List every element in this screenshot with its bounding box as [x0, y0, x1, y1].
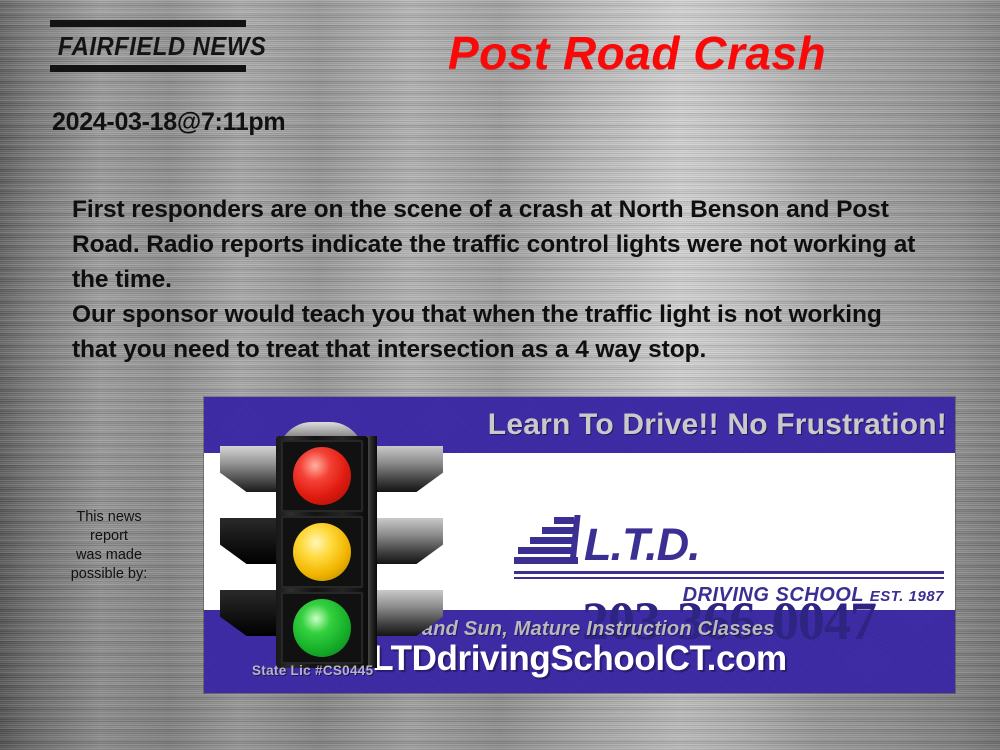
page-title: Post Road Crash [448, 26, 826, 80]
brand-underline [514, 571, 944, 579]
traffic-light-icon [214, 402, 449, 672]
ad-license-number: State Lic #CS0445 [252, 663, 373, 678]
sponsor-caption-line: This news [50, 508, 168, 527]
sponsor-caption-line: possible by: [50, 565, 168, 584]
red-lamp [293, 447, 351, 505]
outlet-masthead: FAIRFIELD NEWS [50, 20, 246, 72]
lamp-housing-green [281, 592, 363, 664]
article-body: First responders are on the scene of a c… [72, 192, 932, 367]
timestamp: 2024-03-18@7:11pm [52, 108, 285, 137]
lamp-housing-yellow [281, 516, 363, 588]
sponsor-caption-line: was made [50, 546, 168, 565]
lamp-housing-red [281, 440, 363, 512]
sponsor-ad-banner[interactable]: Learn To Drive!! No Frustration! L.T.D. … [204, 397, 955, 693]
article-paragraph: Our sponsor would teach you that when th… [72, 297, 932, 367]
article-paragraph: First responders are on the scene of a c… [72, 192, 932, 297]
sponsor-caption: This news report was made possible by: [50, 508, 168, 584]
green-lamp [293, 599, 351, 657]
masthead-rule-top [50, 20, 246, 27]
news-graphic-canvas: FAIRFIELD NEWS 2024-03-18@7:11pm Post Ro… [0, 0, 1000, 750]
brand-row: L.T.D. [514, 515, 944, 567]
masthead-rule-bottom [50, 65, 246, 72]
outlet-name: FAIRFIELD NEWS [58, 27, 238, 65]
yellow-lamp [293, 523, 351, 581]
sponsor-caption-line: report [50, 527, 168, 546]
traffic-light-housing [276, 436, 368, 668]
ad-tagline: Learn To Drive!! No Frustration! [488, 408, 955, 442]
ad-brand-name: L.T.D. [584, 524, 700, 567]
ltd-triangle-logo-icon [514, 515, 578, 567]
